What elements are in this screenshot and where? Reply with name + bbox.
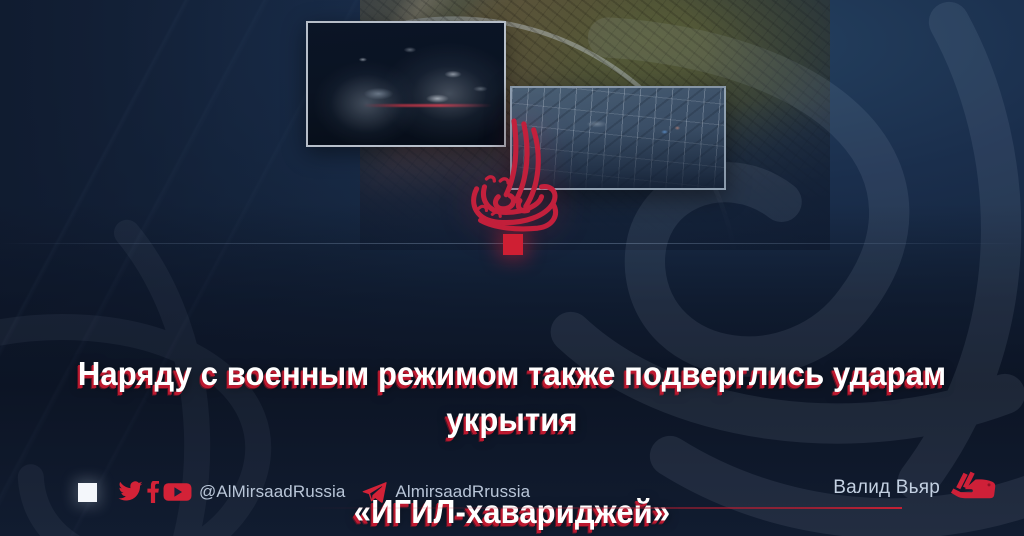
red-square-marker — [503, 234, 523, 255]
white-square-marker — [78, 483, 97, 502]
social-handle[interactable]: @AlMirsaadRussia — [199, 482, 345, 502]
telegram-plane-icon[interactable] — [362, 481, 387, 503]
author-credit: Валид Вьяр — [833, 471, 996, 505]
social-handles-group: @AlMirsaadRussia AlmirsaadRrussia — [78, 481, 530, 503]
news-card: Наряду с военным режимом также подвергли… — [0, 0, 1024, 536]
facebook-f-icon[interactable] — [146, 481, 160, 503]
headline-line-1: Наряду с военным режимом также подвергли… — [68, 351, 955, 443]
hand-with-pen-icon — [950, 471, 996, 505]
footer-bar: @AlMirsaadRussia AlmirsaadRrussia Валид … — [0, 440, 1024, 536]
author-name: Валид Вьяр — [833, 477, 940, 499]
night-strike-red-streak — [363, 104, 492, 107]
telegram-handle[interactable]: AlmirsaadRrussia — [395, 482, 530, 502]
al-mirsaad-logo-icon — [455, 118, 573, 238]
twitter-bird-icon[interactable] — [118, 481, 143, 503]
youtube-play-icon[interactable] — [163, 481, 192, 503]
telegram-group: AlmirsaadRrussia — [362, 481, 530, 503]
author-red-rule — [302, 507, 902, 509]
